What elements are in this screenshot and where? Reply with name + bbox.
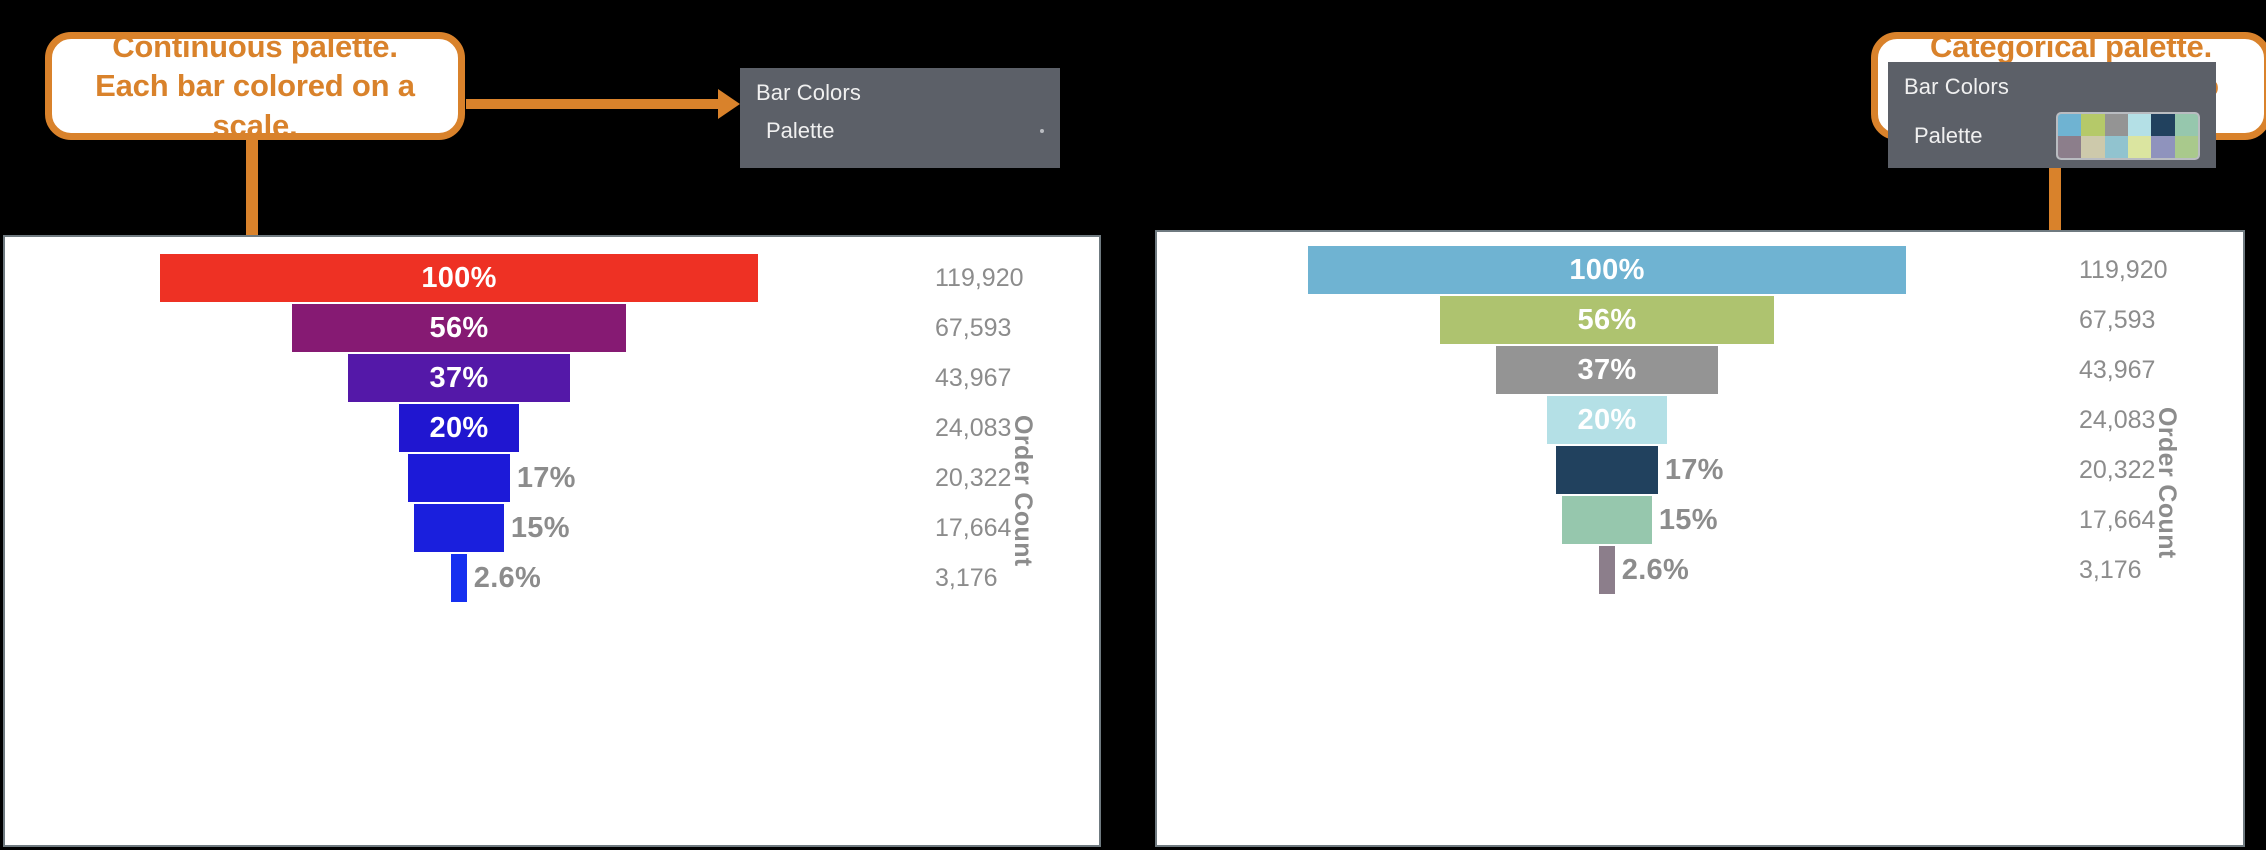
funnel-row: 2.6%3,176 xyxy=(1157,545,2243,595)
funnel-bar[interactable]: 20% xyxy=(1547,396,1667,444)
bar-percent-label: 20% xyxy=(1578,404,1637,437)
bar-count-label: 119,920 xyxy=(913,264,1053,293)
funnel-row: 37%43,967 xyxy=(5,353,1099,403)
funnel-bar[interactable]: 56% xyxy=(1440,296,1775,344)
bar-count-label: 3,176 xyxy=(913,564,1053,593)
callout-text: Continuous palette. Each bar colored on … xyxy=(74,27,436,146)
bar-count-label: 67,593 xyxy=(2057,306,2197,335)
callout-continuous: Continuous palette. Each bar colored on … xyxy=(45,32,465,140)
swatch-cell xyxy=(2081,114,2104,136)
bar-wrap: 37% xyxy=(1157,346,2057,394)
bar-colors-title: Bar Colors xyxy=(1904,74,2200,100)
palette-label: Palette xyxy=(1914,123,1983,149)
panel-categorical: Categorical palette. One color applied t… xyxy=(1133,0,2266,850)
bar-percent-label: 100% xyxy=(1569,254,1644,287)
bar-wrap: 17% xyxy=(1157,446,2057,494)
swatch-cell xyxy=(2175,136,2198,158)
bar-percent-label: 37% xyxy=(430,362,489,395)
bar-wrap: 20% xyxy=(1157,396,2057,444)
axis-title-order-count: Order Count xyxy=(2152,407,2181,559)
bar-percent-label: 37% xyxy=(1578,354,1637,387)
funnel-bar[interactable]: 56% xyxy=(292,304,627,352)
funnel-row: 17%20,322 xyxy=(5,453,1099,503)
bar-percent-label: 17% xyxy=(1665,454,1724,487)
bar-percent-label: 2.6% xyxy=(1622,554,1689,587)
bar-wrap: 100% xyxy=(1157,246,2057,294)
palette-row[interactable]: Palette xyxy=(1904,112,2200,160)
funnel-chart-card-continuous: 100%119,92056%67,59337%43,96720%24,08317… xyxy=(3,235,1101,847)
funnel-continuous: 100%119,92056%67,59337%43,96720%24,08317… xyxy=(5,237,1099,845)
bar-wrap: 56% xyxy=(1157,296,2057,344)
bar-count-label: 119,920 xyxy=(2057,256,2197,285)
bar-wrap: 20% xyxy=(5,404,913,452)
funnel-row: 100%119,920 xyxy=(5,253,1099,303)
panel-continuous: Continuous palette. Each bar colored on … xyxy=(0,0,1133,850)
funnel-bar[interactable]: 2.6% xyxy=(1599,546,1615,594)
swatch-cell xyxy=(2175,114,2198,136)
bar-wrap: 37% xyxy=(5,354,913,402)
swatch-cell xyxy=(2058,114,2081,136)
palette-swatch-button[interactable] xyxy=(1040,129,1044,133)
funnel-bar[interactable]: 37% xyxy=(348,354,569,402)
funnel-bar[interactable]: 15% xyxy=(1562,496,1652,544)
swatch-cell xyxy=(2105,136,2128,158)
bar-percent-label: 56% xyxy=(1578,304,1637,337)
funnel-bar[interactable]: 17% xyxy=(408,454,510,502)
swatch-cell xyxy=(2058,136,2081,158)
funnel-chart-card-categorical: 100%119,92056%67,59337%43,96720%24,08317… xyxy=(1155,230,2245,847)
funnel-row: 2.6%3,176 xyxy=(5,553,1099,603)
bar-wrap: 2.6% xyxy=(1157,546,2057,594)
funnel-bar[interactable]: 37% xyxy=(1496,346,1717,394)
swatch-cell xyxy=(2128,114,2151,136)
axis-title-order-count: Order Count xyxy=(1008,415,1037,567)
funnel-row: 15%17,664 xyxy=(5,503,1099,553)
bar-percent-label: 100% xyxy=(421,262,496,295)
funnel-bar[interactable]: 2.6% xyxy=(451,554,467,602)
bar-wrap: 15% xyxy=(5,504,913,552)
bar-percent-label: 15% xyxy=(1659,504,1718,537)
palette-swatch-button[interactable] xyxy=(2056,112,2200,160)
funnel-row: 20%24,083 xyxy=(5,403,1099,453)
swatch-cell xyxy=(2151,114,2174,136)
funnel-bar[interactable]: 100% xyxy=(1308,246,1906,294)
palette-row[interactable]: Palette xyxy=(756,118,1044,144)
bar-percent-label: 2.6% xyxy=(474,562,541,595)
funnel-bar[interactable]: 17% xyxy=(1556,446,1658,494)
bar-wrap: 17% xyxy=(5,454,913,502)
bar-percent-label: 15% xyxy=(511,512,570,545)
bar-percent-label: 17% xyxy=(517,462,576,495)
bar-wrap: 56% xyxy=(5,304,913,352)
bar-wrap: 2.6% xyxy=(5,554,913,602)
bar-wrap: 15% xyxy=(1157,496,2057,544)
funnel-bar[interactable]: 15% xyxy=(414,504,504,552)
funnel-row: 15%17,664 xyxy=(1157,495,2243,545)
bar-colors-title: Bar Colors xyxy=(756,80,1044,106)
funnel-row: 20%24,083 xyxy=(1157,395,2243,445)
palette-label: Palette xyxy=(766,118,835,144)
swatch-cell xyxy=(2128,136,2151,158)
categorical-swatch xyxy=(2058,114,2198,158)
funnel-row: 37%43,967 xyxy=(1157,345,2243,395)
bar-count-label: 43,967 xyxy=(2057,356,2197,385)
bar-count-label: 43,967 xyxy=(913,364,1053,393)
swatch-cell xyxy=(2105,114,2128,136)
swatch-cell xyxy=(2151,136,2174,158)
funnel-bar[interactable]: 100% xyxy=(160,254,758,302)
funnel-categorical: 100%119,92056%67,59337%43,96720%24,08317… xyxy=(1157,232,2243,845)
bar-percent-label: 56% xyxy=(430,312,489,345)
bar-colors-panel: Bar Colors Palette xyxy=(1888,62,2216,168)
bar-colors-panel: Bar Colors Palette xyxy=(740,68,1060,168)
funnel-row: 56%67,593 xyxy=(1157,295,2243,345)
funnel-row: 17%20,322 xyxy=(1157,445,2243,495)
funnel-row: 100%119,920 xyxy=(1157,245,2243,295)
bar-count-label: 67,593 xyxy=(913,314,1053,343)
funnel-bar[interactable]: 20% xyxy=(399,404,519,452)
swatch-cell xyxy=(2081,136,2104,158)
funnel-row: 56%67,593 xyxy=(5,303,1099,353)
bar-count-label: 3,176 xyxy=(2057,556,2197,585)
bar-percent-label: 20% xyxy=(430,412,489,445)
bar-wrap: 100% xyxy=(5,254,913,302)
